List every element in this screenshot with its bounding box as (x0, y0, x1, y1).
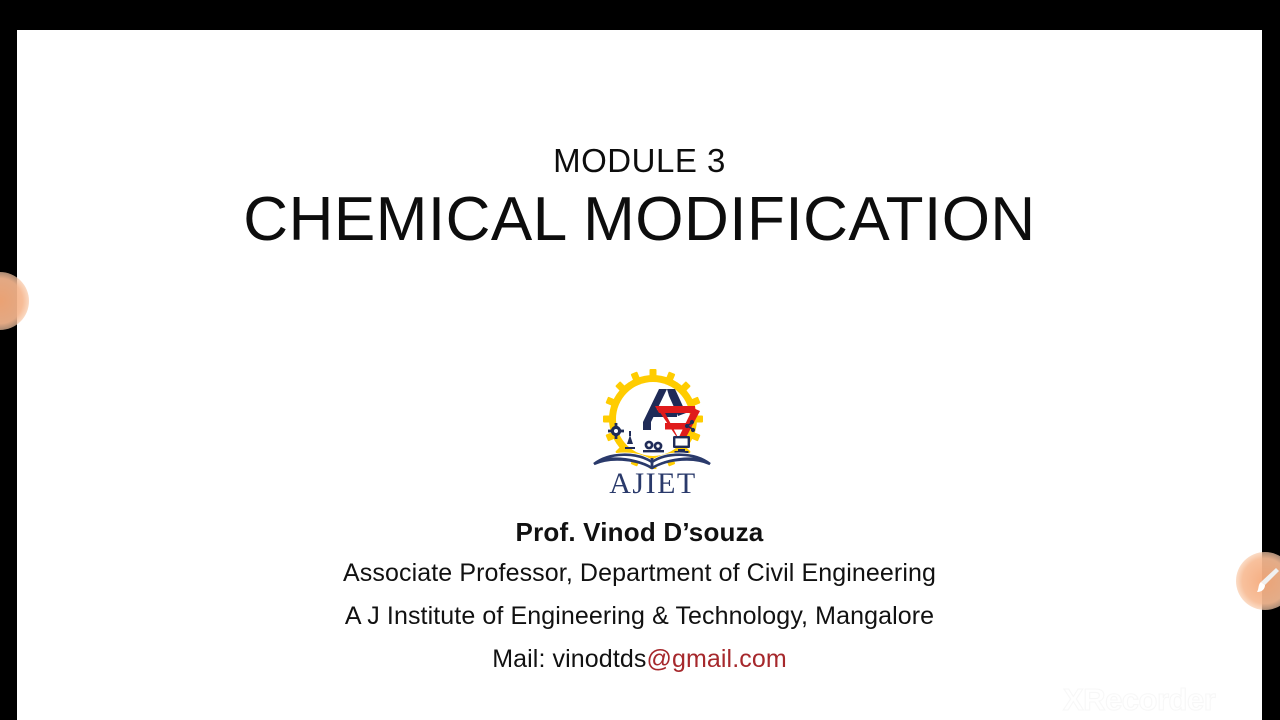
presenter-info-block: Prof. Vinod D’souza Associate Professor,… (17, 512, 1262, 681)
ajiet-wordmark-text: AJIET (609, 467, 696, 500)
ajiet-logo-graphic: AJIET (583, 368, 723, 500)
mail-label: Mail: vinodtds (492, 645, 646, 673)
slide-title-block: MODULE 3 CHEMICAL MODIFICATION (17, 142, 1262, 254)
presenter-name: Prof. Vinod D’souza (17, 512, 1262, 552)
presenter-mail-line: Mail: vinodtds@gmail.com (17, 638, 1262, 681)
presentation-slide: MODULE 3 CHEMICAL MODIFICATION (17, 30, 1262, 720)
brush-icon (1249, 565, 1280, 597)
slide-main-title: CHEMICAL MODIFICATION (17, 185, 1262, 254)
ajiet-institute-logo: AJIET (583, 368, 723, 500)
presenter-designation: Associate Professor, Department of Civil… (17, 552, 1262, 595)
module-label: MODULE 3 (17, 142, 1262, 181)
mail-domain: @gmail.com (646, 645, 786, 673)
xrecorder-watermark: XRecorder (1063, 684, 1215, 715)
screen-recording-frame: MODULE 3 CHEMICAL MODIFICATION (0, 0, 1280, 720)
presenter-institution: A J Institute of Engineering & Technolog… (17, 595, 1262, 638)
